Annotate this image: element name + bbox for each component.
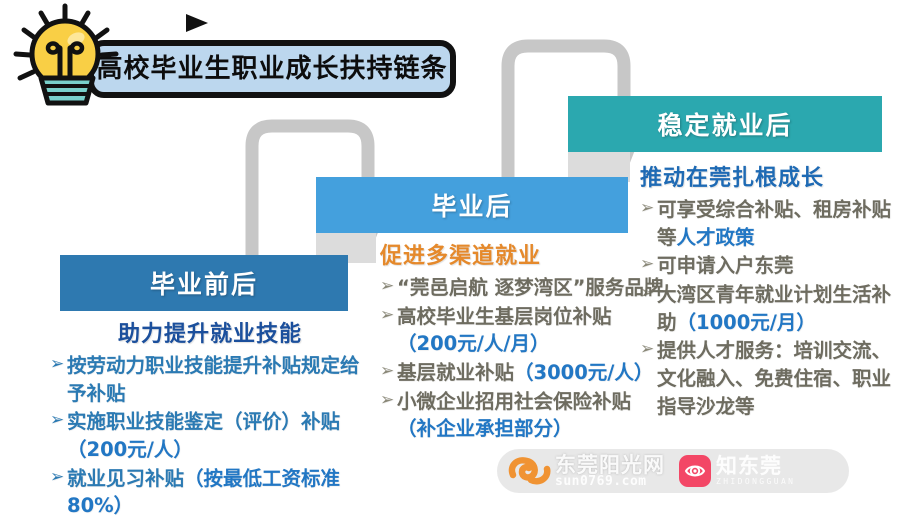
highlight-text: （200元/人） <box>67 438 193 461</box>
orange-swirl-logo-icon <box>507 456 551 486</box>
list-item: 提供人才服务：培训交流、文化融入、免费住宿、职业指导沙龙等 <box>640 337 898 420</box>
watermark-zdg-en-label: ZHIDONGGUAN <box>716 478 795 486</box>
stage-3-bullet-list: 可享受综合补贴、租房补贴等人才政策 可申请入户东莞 大湾区青年就业计划生活补助（… <box>640 196 898 421</box>
highlight-text: （补企业承担部分） <box>397 417 573 440</box>
highlight-text: 人才政策 <box>677 226 755 249</box>
list-item: 基层就业补贴（3000元/人） <box>380 359 665 387</box>
infographic-canvas: 稳定就业后 推动在莞扎根成长 可享受综合补贴、租房补贴等人才政策 可申请入户东莞… <box>0 0 900 523</box>
stage-1-header: 毕业前后 <box>60 255 348 311</box>
eye-app-icon <box>679 455 711 487</box>
watermark-sun-cn-label: 东莞阳光网 <box>555 455 665 476</box>
watermark-overlay: 东莞阳光网 sun0769.com 知东莞 ZHIDONGGUAN <box>497 449 849 493</box>
list-item: 高校毕业生基层岗位补贴（200元/人/月） <box>380 303 665 358</box>
stage-2-bullet-list: “莞邑启航 逐梦湾区”服务品牌 高校毕业生基层岗位补贴（200元/人/月） 基层… <box>380 274 665 443</box>
lightbulb-icon <box>8 2 128 110</box>
watermark-zdg-cn-label: 知东莞 <box>716 456 795 477</box>
watermark-sun0769: 东莞阳光网 sun0769.com <box>507 455 665 488</box>
list-item: “莞邑启航 逐梦湾区”服务品牌 <box>380 274 665 302</box>
list-item: 大湾区青年就业计划生活补助（1000元/月） <box>640 281 898 336</box>
highlight-text: （3000元/人） <box>514 361 653 384</box>
stage-1-body: 助力提升就业技能 按劳动力职业技能提升补贴规定给予补贴 实施职业技能鉴定（评价）… <box>50 316 360 521</box>
page-title-banner: 高校毕业生职业成长扶持链条 <box>88 40 456 98</box>
stage-3-subtitle: 推动在莞扎根成长 <box>640 160 898 192</box>
page-title: 高校毕业生职业成长扶持链条 <box>96 56 447 82</box>
list-item: 就业见习补贴（按最低工资标准80%） <box>50 465 360 520</box>
stage-3-body: 推动在莞扎根成长 可享受综合补贴、租房补贴等人才政策 可申请入户东莞 大湾区青年… <box>640 160 898 422</box>
list-item: 实施职业技能鉴定（评价）补贴（200元/人） <box>50 408 360 463</box>
list-item: 可申请入户东莞 <box>640 252 898 280</box>
watermark-zhidongguan: 知东莞 ZHIDONGGUAN <box>679 455 795 487</box>
stage-3-header: 稳定就业后 <box>568 96 882 152</box>
stage-2-header: 毕业后 <box>316 177 628 233</box>
stage-1-subtitle: 助力提升就业技能 <box>50 316 360 348</box>
highlight-text: （1000元/月） <box>677 311 816 334</box>
highlight-text: （200元/人/月） <box>397 332 549 355</box>
list-item: 小微企业招用社会保险补贴（补企业承担部分） <box>380 388 665 443</box>
play-triangle-icon <box>186 14 208 32</box>
stage-2-header-label: 毕业后 <box>431 187 512 223</box>
stage-1-header-label: 毕业前后 <box>150 265 258 301</box>
stage-1-bullet-list: 按劳动力职业技能提升补贴规定给予补贴 实施职业技能鉴定（评价）补贴（200元/人… <box>50 352 360 520</box>
stage-2-body: 促进多渠道就业 “莞邑启航 逐梦湾区”服务品牌 高校毕业生基层岗位补贴（200元… <box>380 238 665 444</box>
list-item: 按劳动力职业技能提升补贴规定给予补贴 <box>50 352 360 407</box>
stage-3-header-label: 稳定就业后 <box>657 106 792 142</box>
list-item: 可享受综合补贴、租房补贴等人才政策 <box>640 196 898 251</box>
stage-2-subtitle: 促进多渠道就业 <box>380 238 665 270</box>
